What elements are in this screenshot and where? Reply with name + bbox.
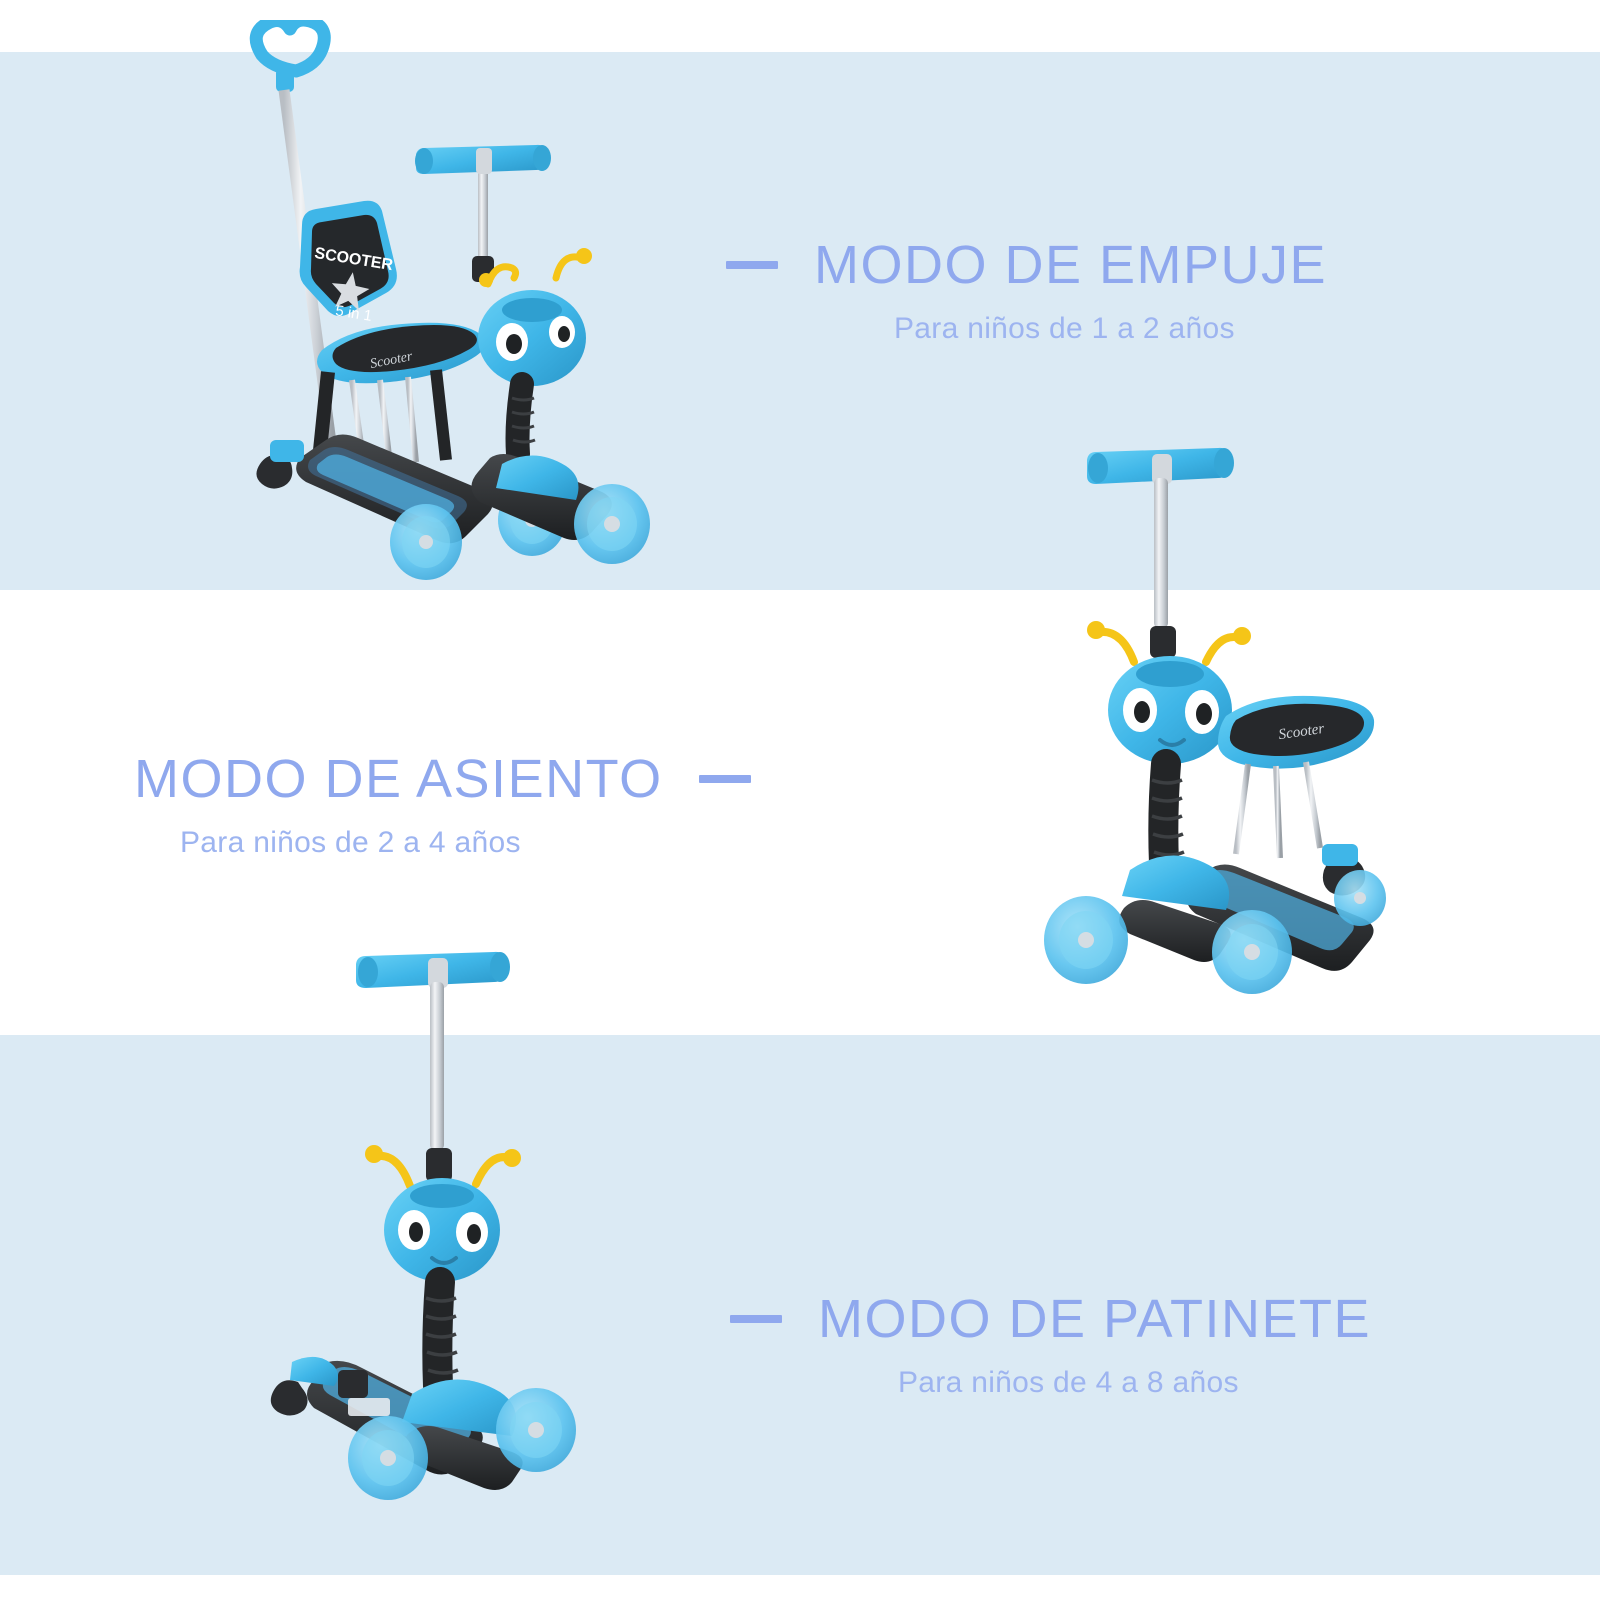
section-subtitle-patinete: Para niños de 4 a 8 años (898, 1368, 1371, 1398)
seat: Scooter (317, 323, 485, 384)
wheel-rear-left (348, 1416, 428, 1500)
bee-eye-left (1123, 688, 1157, 732)
dash-marker-patinete (730, 1315, 782, 1323)
bee-eye-right (549, 316, 575, 348)
section-title-empuje: MODO DE EMPUJE (814, 238, 1327, 292)
section-title-asiento: MODO DE ASIENTO (134, 752, 663, 806)
wheel-rear (1334, 870, 1386, 926)
section-subtitle-asiento: Para niños de 2 a 4 años (180, 828, 751, 858)
section-title-patinete: MODO DE PATINETE (818, 1292, 1371, 1346)
bee-eye-left (398, 1210, 430, 1250)
wheel-front (574, 484, 650, 564)
caption-empuje: MODO DE EMPUJE Para niños de 1 a 2 años (726, 238, 1327, 344)
caption-patinete: MODO DE PATINETE Para niños de 4 a 8 año… (730, 1292, 1371, 1398)
section-subtitle-empuje: Para niños de 1 a 2 años (894, 314, 1327, 344)
dash-marker-empuje (726, 261, 778, 269)
scooter-push-mode-image: SCOOTER 5 in 1 Scooter (240, 20, 660, 580)
bee-eye-left (496, 323, 528, 361)
wheel-front-right (496, 1388, 576, 1472)
dash-marker-asiento (699, 775, 751, 783)
caption-asiento: MODO DE ASIENTO Para niños de 2 a 4 años (134, 752, 751, 858)
wheel-front-right (1212, 910, 1292, 994)
bee-eye-right (456, 1212, 488, 1252)
seat: Scooter (1218, 696, 1374, 769)
bee-head (478, 248, 592, 386)
wheel-front-left (1044, 896, 1128, 984)
bee-eye-right (1185, 690, 1219, 734)
badge-bottom-text: 5 in 1 (334, 302, 373, 325)
wheel-rear-left (390, 504, 462, 580)
scooter-kick-mode-image (270, 930, 630, 1510)
push-handle-icon (256, 20, 324, 92)
scooter-seat-mode-image: Scooter (1030, 430, 1410, 1000)
